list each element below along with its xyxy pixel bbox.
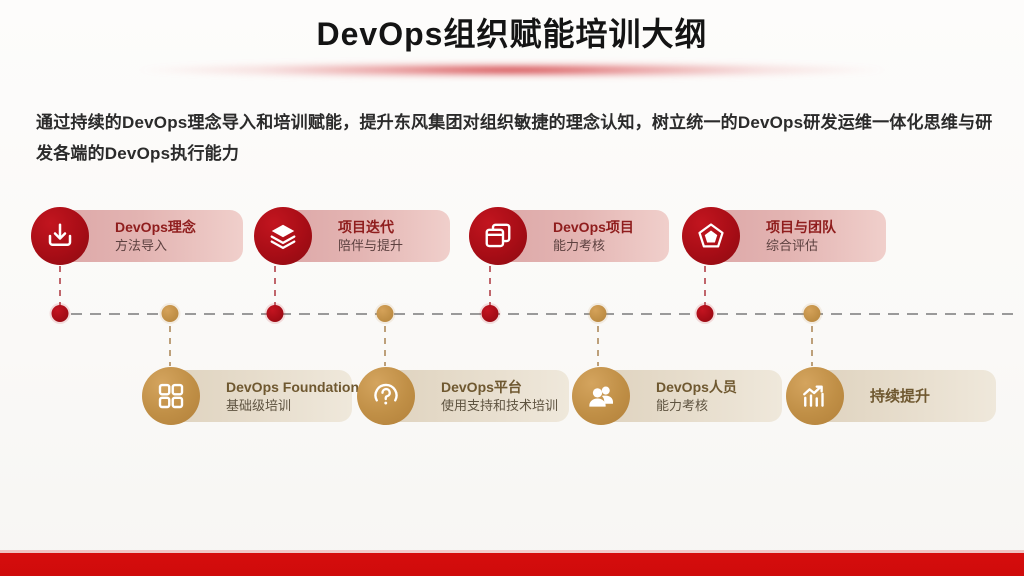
subtitle-paragraph: 通过持续的DevOps理念导入和培训赋能，提升东风集团对组织敏捷的理念认知，树立… [36, 107, 996, 169]
top-card-4[interactable]: 项目与团队 综合评估 [682, 210, 886, 262]
bottom-card-4-line1: 持续提升 [870, 387, 996, 406]
top-card-4-line2: 综合评估 [766, 237, 886, 255]
bottom-card-2-line1: DevOps平台 [441, 378, 569, 397]
top-card-2-line1: 项目迭代 [338, 218, 450, 237]
timeline-axis [52, 313, 1014, 315]
growth-chart-icon [786, 367, 844, 425]
bottom-card-1[interactable]: DevOps Foundation 基础级培训 [142, 370, 352, 422]
bottom-card-1-line2: 基础级培训 [226, 397, 352, 415]
timeline-dot-6[interactable] [590, 305, 607, 322]
slide-canvas: DevOps组织赋能培训大纲 通过持续的DevOps理念导入和培训赋能，提升东风… [0, 0, 1024, 576]
pentagon-badge-icon [682, 207, 740, 265]
top-card-4-line1: 项目与团队 [766, 218, 886, 237]
page-title: DevOps组织赋能培训大纲 [0, 14, 1024, 54]
top-card-2-line2: 陪伴与提升 [338, 237, 450, 255]
top-card-2[interactable]: 项目迭代 陪伴与提升 [254, 210, 450, 262]
top-card-1-line1: DevOps理念 [115, 218, 243, 237]
timeline-dot-8[interactable] [804, 305, 821, 322]
question-help-icon [357, 367, 415, 425]
top-card-1[interactable]: DevOps理念 方法导入 [31, 210, 243, 262]
bottom-card-3-line1: DevOps人员 [656, 378, 782, 397]
title-area: DevOps组织赋能培训大纲 [0, 14, 1024, 54]
grid-squares-icon [142, 367, 200, 425]
windows-copy-icon [469, 207, 527, 265]
top-card-3-line1: DevOps项目 [553, 218, 669, 237]
connector-up-1 [59, 266, 61, 308]
top-card-3-line2: 能力考核 [553, 237, 669, 255]
timeline-dot-1[interactable] [52, 305, 69, 322]
bottom-card-4[interactable]: 持续提升 [786, 370, 996, 422]
connector-up-3 [489, 266, 491, 308]
footer-bar [0, 553, 1024, 576]
title-glow-divider [0, 62, 1024, 78]
import-download-icon [31, 207, 89, 265]
timeline-dot-2[interactable] [162, 305, 179, 322]
bottom-card-2-line2: 使用支持和技术培训 [441, 397, 569, 415]
bottom-card-1-line1: DevOps Foundation [226, 378, 352, 397]
top-card-3[interactable]: DevOps项目 能力考核 [469, 210, 669, 262]
timeline-dot-4[interactable] [377, 305, 394, 322]
timeline-dot-5[interactable] [482, 305, 499, 322]
bottom-card-3[interactable]: DevOps人员 能力考核 [572, 370, 782, 422]
timeline-dot-7[interactable] [697, 305, 714, 322]
connector-up-2 [274, 266, 276, 308]
layers-stack-icon [254, 207, 312, 265]
timeline-dot-3[interactable] [267, 305, 284, 322]
connector-up-4 [704, 266, 706, 308]
bottom-card-3-line2: 能力考核 [656, 397, 782, 415]
bottom-card-2[interactable]: DevOps平台 使用支持和技术培训 [357, 370, 569, 422]
users-group-icon [572, 367, 630, 425]
top-card-1-line2: 方法导入 [115, 237, 243, 255]
